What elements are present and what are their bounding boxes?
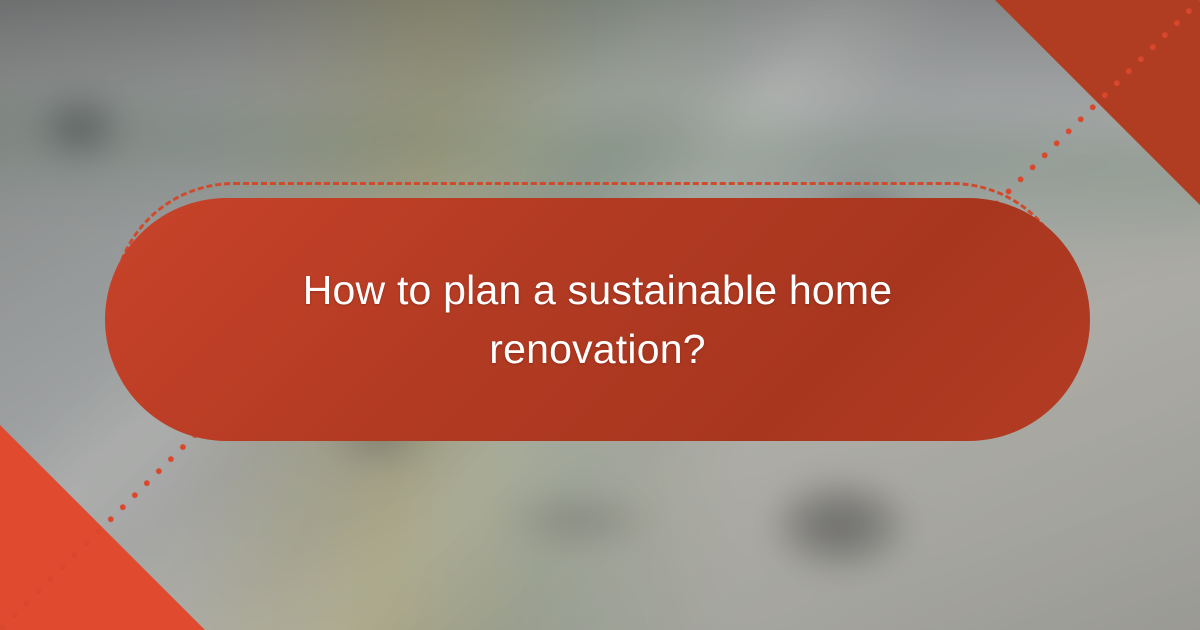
poster-canvas: How to plan a sustainable home renovatio… bbox=[0, 0, 1200, 630]
title-card: How to plan a sustainable home renovatio… bbox=[105, 198, 1090, 441]
poster-title: How to plan a sustainable home renovatio… bbox=[201, 261, 994, 377]
